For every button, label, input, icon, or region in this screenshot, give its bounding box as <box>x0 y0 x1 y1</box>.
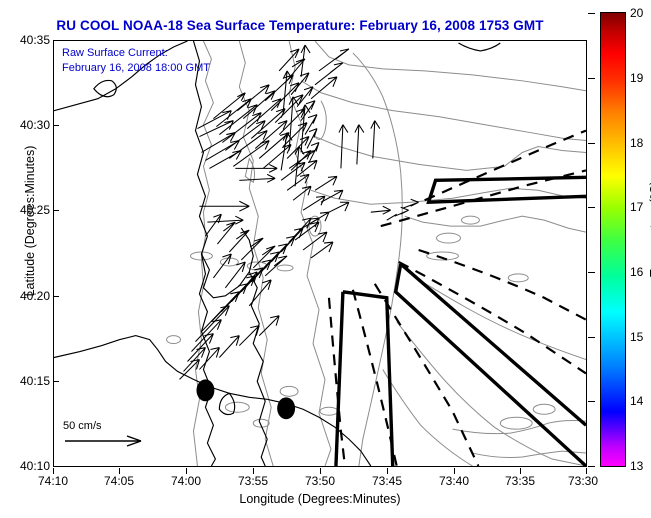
ytick-label: 40:15 <box>2 374 50 388</box>
ytick-mark <box>53 466 59 467</box>
colorbar-tick <box>588 13 595 14</box>
xtick-label: 73:30 <box>548 474 618 488</box>
colorbar-label: 14 <box>630 394 643 408</box>
colorbar-tick <box>588 78 595 79</box>
colorbar-tick <box>588 401 595 402</box>
colorbar-label: 16 <box>630 265 643 279</box>
scale-bar-label: 50 cm/s <box>63 420 159 432</box>
page-title: RU COOL NOAA-18 Sea Surface Temperature:… <box>0 18 600 33</box>
scale-bar-arrow-icon <box>63 434 153 448</box>
colorbar-label: 15 <box>630 330 643 344</box>
ytick-mark <box>53 210 59 211</box>
colorbar-tick <box>588 207 595 208</box>
ytick-mark <box>53 125 59 126</box>
x-axis-title: Longitude (Degrees:Minutes) <box>53 492 587 506</box>
map-overlays <box>54 41 586 466</box>
ytick-label: 40:35 <box>2 33 50 47</box>
xtick-label: 73:55 <box>218 474 288 488</box>
ytick-mark <box>53 381 59 382</box>
xtick-label: 73:45 <box>352 474 422 488</box>
colorbar-tick <box>588 272 595 273</box>
xtick-label: 74:00 <box>151 474 221 488</box>
colorbar-label: 18 <box>630 136 643 150</box>
ytick-label: 40:10 <box>2 459 50 473</box>
xtick-label: 74:05 <box>84 474 154 488</box>
figure-canvas: RU COOL NOAA-18 Sea Surface Temperature:… <box>0 0 651 518</box>
bathymetry-contours <box>167 41 586 466</box>
colorbar[interactable] <box>600 12 626 467</box>
station-markers <box>196 379 295 419</box>
ytick-mark <box>53 40 59 41</box>
colorbar-label: 19 <box>630 71 643 85</box>
station-marker-1 <box>196 379 214 401</box>
surface-current-vectors <box>180 45 419 379</box>
colorbar-tick <box>588 466 595 467</box>
xtick-label: 74:10 <box>18 474 88 488</box>
xtick-label: 73:40 <box>419 474 489 488</box>
map-plot-area[interactable]: Raw Surface Current: February 16, 2008 1… <box>53 40 587 467</box>
ytick-mark <box>53 296 59 297</box>
xtick-label: 73:35 <box>485 474 555 488</box>
colorbar-tick <box>588 337 595 338</box>
colorbar-tick <box>588 143 595 144</box>
xtick-label: 73:50 <box>285 474 355 488</box>
scale-bar: 50 cm/s <box>63 420 159 448</box>
station-marker-2 <box>277 397 295 419</box>
colorbar-label: 13 <box>630 459 643 473</box>
y-axis-title: Latitude (Degrees:Minutes) <box>23 111 37 331</box>
colorbar-label: 20 <box>630 6 643 20</box>
colorbar-label: 17 <box>630 200 643 214</box>
